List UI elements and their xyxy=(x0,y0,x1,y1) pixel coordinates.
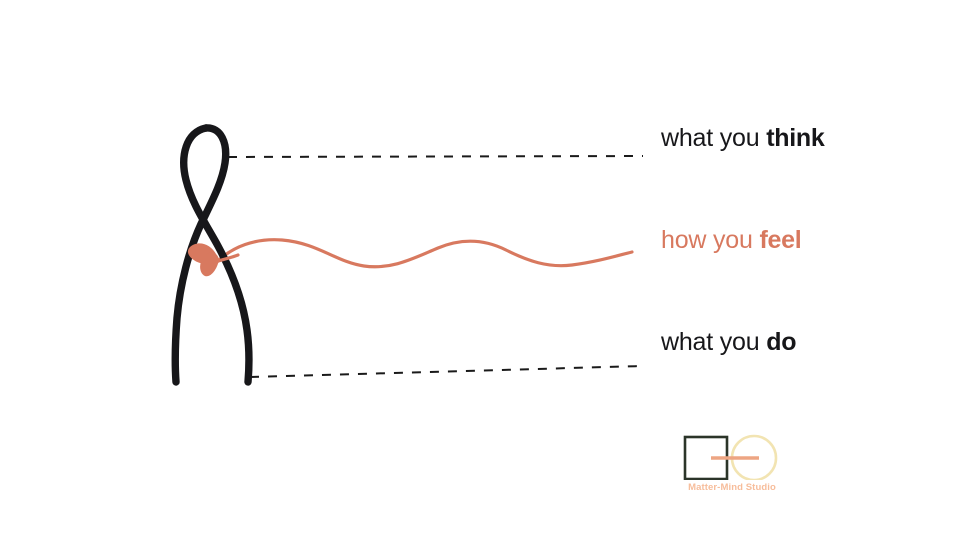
label-feel-lead: how you xyxy=(661,226,759,254)
logo-caption: Matter-Mind Studio xyxy=(683,482,781,493)
label-do-lead: what you xyxy=(661,328,766,356)
feeling-wave xyxy=(215,240,632,267)
studio-logo: Matter-Mind Studio xyxy=(683,434,781,498)
illustration-canvas: what you think how you feel what you do … xyxy=(0,0,960,540)
think-connector-line xyxy=(228,156,643,157)
logo-mark-icon xyxy=(683,434,781,480)
label-feel-emphasis: feel xyxy=(759,226,801,254)
label-do-emphasis: do xyxy=(766,328,796,356)
label-think-emphasis: think xyxy=(766,124,824,152)
diagram-artwork xyxy=(0,0,960,540)
do-connector-line xyxy=(250,366,643,377)
label-what-you-do: what you do xyxy=(661,330,796,355)
label-what-you-think: what you think xyxy=(661,126,824,151)
label-think-lead: what you xyxy=(661,124,766,152)
label-how-you-feel: how you feel xyxy=(661,228,801,253)
